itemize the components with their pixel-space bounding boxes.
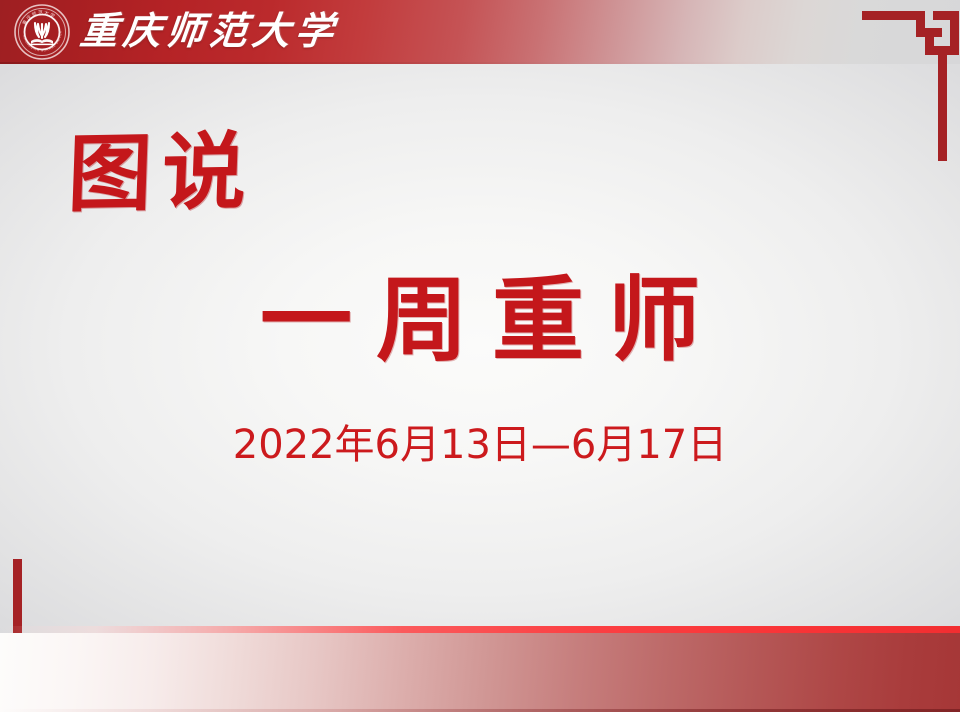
bottom-accent-line (0, 626, 960, 633)
meander-corner-ornament-top-right (850, 0, 960, 170)
brand-row: 重庆师范大学 CHONGQING NORMAL UNIVERSITY 重庆师范大… (0, 0, 338, 64)
page-title: 一周重师 (0, 272, 960, 369)
university-name: 重庆师范大学 (78, 12, 340, 53)
bottom-white-strip (0, 712, 960, 720)
university-seal-logo: 重庆师范大学 CHONGQING NORMAL UNIVERSITY (14, 4, 70, 60)
title-slide: 重庆师范大学 CHONGQING NORMAL UNIVERSITY 重庆师范大… (0, 0, 960, 720)
eyebrow-title: 图说 (66, 129, 257, 216)
date-range: 2022年6月13日—6月17日 (0, 425, 960, 465)
bottom-gradient-band (0, 633, 960, 712)
